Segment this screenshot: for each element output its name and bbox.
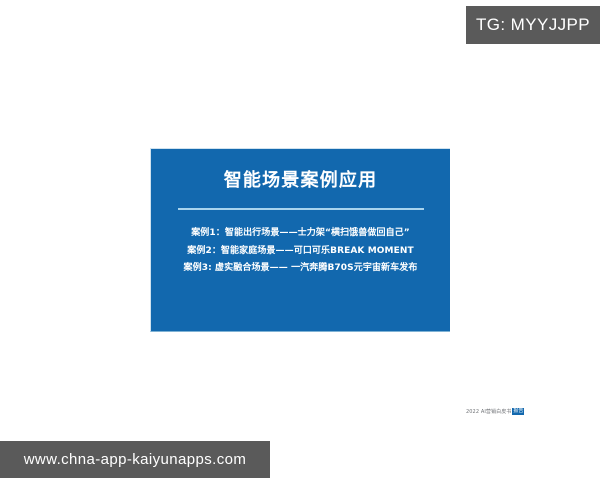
screenshot-root: 智能场景案例应用 案例1：智能出行场景——士力架“横扫饿兽做回自己” 案例2：智…: [0, 0, 600, 480]
watermark-top-right: TG: MYYJJPP: [466, 6, 600, 44]
list-item: 案例2：智能家庭场景——可口可乐BREAK MOMENT: [151, 243, 450, 261]
slide-footer-label: 2022 AI营销白皮书: [466, 408, 511, 415]
watermark-bottom-left: www.chna-app-kaiyunapps.com: [0, 441, 270, 478]
list-item: 案例3: 虚实融合场景—— 一汽奔腾B70S元宇宙新车发布: [151, 260, 450, 278]
page-title: 智能场景案例应用: [151, 171, 450, 191]
blue-content-panel: 智能场景案例应用 案例1：智能出行场景——士力架“横扫饿兽做回自己” 案例2：智…: [150, 148, 450, 332]
slide-canvas: 智能场景案例应用 案例1：智能出行场景——士力架“横扫饿兽做回自己” 案例2：智…: [0, 0, 600, 480]
slide-footer: 2022 AI营销白皮书 报告: [466, 408, 524, 415]
title-divider: [178, 208, 424, 210]
status-badge: 报告: [512, 408, 524, 415]
case-list: 案例1：智能出行场景——士力架“横扫饿兽做回自己” 案例2：智能家庭场景——可口…: [151, 225, 450, 278]
list-item: 案例1：智能出行场景——士力架“横扫饿兽做回自己”: [151, 225, 450, 243]
